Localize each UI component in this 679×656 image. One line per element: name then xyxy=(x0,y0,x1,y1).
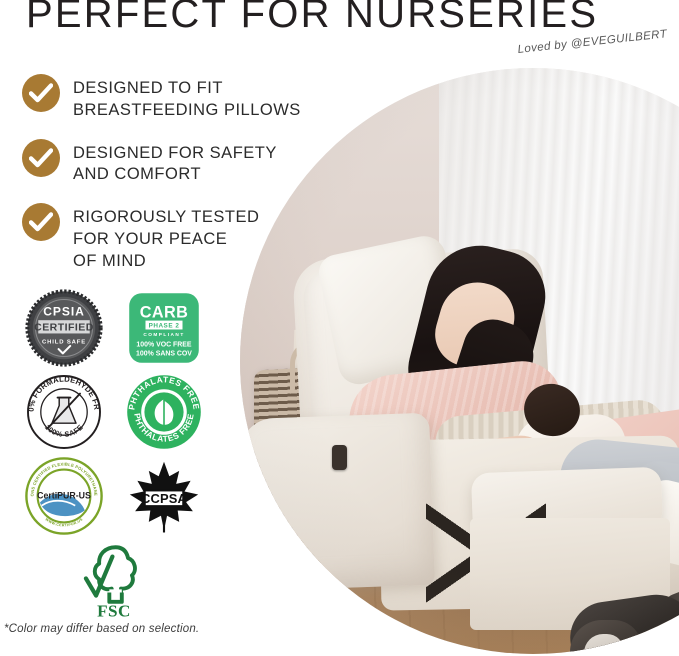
badge-cell: CPSIA CERTIFIED CHILD SAFE xyxy=(14,289,114,367)
fsc-tree-checkmark-badge-icon: FSC xyxy=(75,541,153,619)
carb-phase-2-compliant-badge-icon: CARB PHASE 2 COMPLIANT 100% VOC FREE 100… xyxy=(127,291,201,365)
svg-text:CHILD SAFE: CHILD SAFE xyxy=(42,340,86,346)
badge-cell: 100% FORMALDEHYDE FREE 100% SAFE xyxy=(14,372,114,452)
badge-row: CUSHIONS CERTIFIED FLEXIBLE POLYURETHANE… xyxy=(14,454,214,538)
svg-text:CCPSA: CCPSA xyxy=(141,491,187,506)
badge-row: FSC xyxy=(14,538,214,622)
badge-cell: CCPSA xyxy=(114,458,214,534)
check-icon xyxy=(22,74,60,112)
svg-text:100% VOC FREE: 100% VOC FREE xyxy=(136,342,192,349)
page-title: PERFECT FOR NURSERIES xyxy=(26,0,598,37)
svg-text:CPSIA: CPSIA xyxy=(43,305,85,319)
badge-row: 100% FORMALDEHYDE FREE 100% SAFE xyxy=(14,370,214,454)
check-icon xyxy=(22,203,60,241)
feature-label: DESIGNED FOR SAFETY AND COMFORT xyxy=(73,139,277,187)
certipur-us-badge-icon: CUSHIONS CERTIFIED FLEXIBLE POLYURETHANE… xyxy=(24,456,104,536)
badge-cell: CARB PHASE 2 COMPLIANT 100% VOC FREE 100… xyxy=(114,291,214,365)
disclaimer-text: *Color may differ based on selection. xyxy=(4,623,199,635)
badge-row: CPSIA CERTIFIED CHILD SAFE CARB PHASE 2 … xyxy=(14,286,214,370)
cpsia-certified-badge-icon: CPSIA CERTIFIED CHILD SAFE xyxy=(25,289,103,367)
check-icon xyxy=(22,139,60,177)
formaldehyde-free-badge-icon: 100% FORMALDEHYDE FREE 100% SAFE xyxy=(24,372,104,452)
product-feature-image: PERFECT FOR NURSERIES Loved by @EVEGUILB… xyxy=(0,0,679,656)
ccpsa-maple-leaf-badge-icon: CCPSA xyxy=(126,458,202,534)
svg-text:CARB: CARB xyxy=(140,304,188,322)
svg-text:COMPLIANT: COMPLIANT xyxy=(143,332,184,338)
svg-text:FSC: FSC xyxy=(97,602,131,619)
feature-item: DESIGNED TO FIT BREASTFEEDING PILLOWS xyxy=(22,74,322,122)
svg-text:100% SAFE: 100% SAFE xyxy=(43,423,85,439)
feature-item: RIGOROUSLY TESTED FOR YOUR PEACE OF MIND xyxy=(22,203,322,272)
phthalates-free-badge-icon: PHTHALATES FREE PHTHALATES FREE xyxy=(124,372,204,452)
svg-text:100% SANS COV: 100% SANS COV xyxy=(136,350,192,357)
badge-cell: PHTHALATES FREE PHTHALATES FREE xyxy=(114,372,214,452)
svg-text:CertiPUR-US: CertiPUR-US xyxy=(37,490,91,500)
svg-text:CERTIFIED: CERTIFIED xyxy=(34,322,94,334)
feature-label: RIGOROUSLY TESTED FOR YOUR PEACE OF MIND xyxy=(73,203,259,272)
feature-label: DESIGNED TO FIT BREASTFEEDING PILLOWS xyxy=(73,74,301,122)
certification-badge-grid: CPSIA CERTIFIED CHILD SAFE CARB PHASE 2 … xyxy=(14,286,214,622)
feature-list: DESIGNED TO FIT BREASTFEEDING PILLOWS DE… xyxy=(22,74,322,289)
badge-cell: CUSHIONS CERTIFIED FLEXIBLE POLYURETHANE… xyxy=(14,456,114,536)
badge-cell: FSC xyxy=(14,541,214,619)
svg-text:PHASE 2: PHASE 2 xyxy=(149,322,180,329)
feature-item: DESIGNED FOR SAFETY AND COMFORT xyxy=(22,139,322,187)
